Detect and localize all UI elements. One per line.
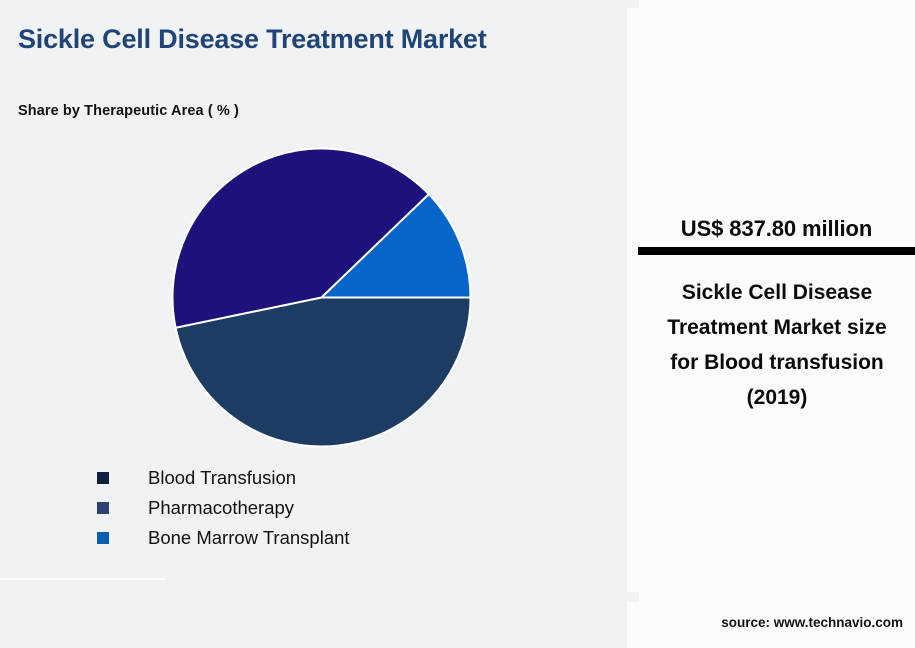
chart-panel: Sickle Cell Disease Treatment Market Sha… [0,0,627,648]
footer-divider [0,578,166,580]
pie-chart [170,146,473,449]
legend-item-pharmacotherapy[interactable]: Pharmacotherapy [97,493,350,523]
page-title: Sickle Cell Disease Treatment Market [18,24,518,55]
source-note: source: www.technavio.com [638,615,903,630]
kpi-divider [638,247,915,255]
panel-top-notch [627,0,639,8]
panel-bottom-notch [627,592,639,602]
pie-slice[interactable] [176,298,471,447]
chart-subtitle: Share by Therapeutic Area ( % ) [18,103,239,119]
chart-legend: Blood Transfusion Pharmacotherapy Bone M… [97,463,350,553]
kpi-caption: Sickle Cell Disease Treatment Market siz… [652,276,902,415]
legend-item-label: Bone Marrow Transplant [148,527,350,549]
legend-item-blood-transfusion[interactable]: Blood Transfusion [97,463,350,493]
legend-swatch-icon [97,502,109,514]
legend-swatch-icon [97,472,109,484]
legend-item-label: Pharmacotherapy [148,497,294,519]
legend-item-bone-marrow-transplant[interactable]: Bone Marrow Transplant [97,523,350,553]
pie-slice-group [173,149,471,447]
pie-chart-svg [170,146,473,449]
kpi-value: US$ 837.80 million [638,216,915,242]
legend-swatch-icon [97,532,109,544]
legend-item-label: Blood Transfusion [148,467,296,489]
